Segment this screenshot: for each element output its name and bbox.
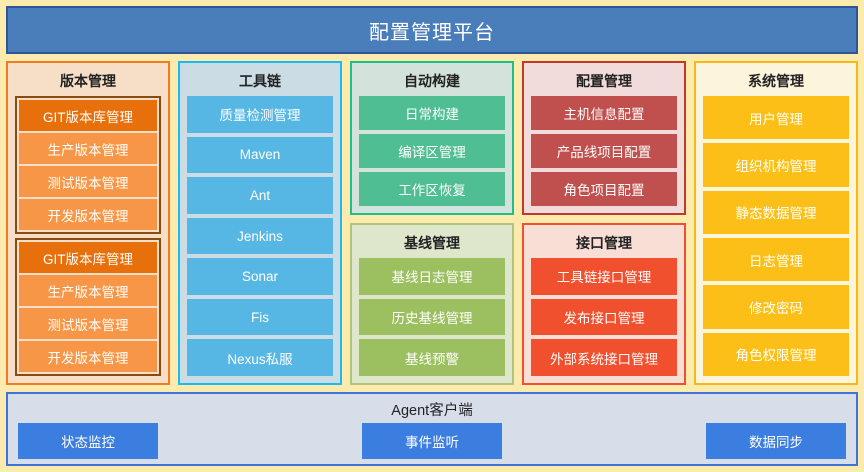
item-release-interface-management[interactable]: 发布接口管理 (531, 299, 677, 336)
module-columns: 版本管理 GIT版本库管理 生产版本管理 测试版本管理 开发版本管理 GIT版本… (6, 61, 858, 385)
item-daily-build[interactable]: 日常构建 (359, 96, 505, 130)
agent-button-data-sync[interactable]: 数据同步 (706, 423, 846, 459)
agent-button-event-listener[interactable]: 事件监听 (362, 423, 502, 459)
agent-client-buttons: 状态监控 事件监听 数据同步 (8, 423, 856, 467)
box-config-management: 配置管理 主机信息配置 产品线项目配置 角色项目配置 (522, 61, 686, 215)
column-version-management: 版本管理 GIT版本库管理 生产版本管理 测试版本管理 开发版本管理 GIT版本… (6, 61, 170, 385)
item-workspace-recovery[interactable]: 工作区恢复 (359, 172, 505, 206)
interface-items: 工具链接口管理 发布接口管理 外部系统接口管理 (531, 258, 677, 376)
item-user-management[interactable]: 用户管理 (703, 96, 849, 139)
item-history-baseline-management[interactable]: 历史基线管理 (359, 299, 505, 336)
item-nexus-private-server[interactable]: Nexus私服 (187, 339, 333, 376)
column-toolchain: 工具链 质量检测管理 Maven Ant Jenkins Sonar Fis N… (178, 61, 342, 385)
box-title-version-management: 版本管理 (15, 68, 161, 96)
box-title-auto-build: 自动构建 (359, 68, 505, 96)
column-system-management: 系统管理 用户管理 组织机构管理 静态数据管理 日志管理 修改密码 角色权限管理 (694, 61, 858, 385)
item-compile-area-management[interactable]: 编译区管理 (359, 134, 505, 168)
item-product-line-project-config[interactable]: 产品线项目配置 (531, 134, 677, 168)
box-interface-management: 接口管理 工具链接口管理 发布接口管理 外部系统接口管理 (522, 223, 686, 385)
item-jenkins[interactable]: Jenkins (187, 218, 333, 255)
item-dev-version-management-1[interactable]: 开发版本管理 (19, 199, 157, 230)
item-external-system-interface-management[interactable]: 外部系统接口管理 (531, 339, 677, 376)
item-baseline-alert[interactable]: 基线预警 (359, 339, 505, 376)
item-fis[interactable]: Fis (187, 299, 333, 336)
item-organization-management[interactable]: 组织机构管理 (703, 143, 849, 186)
toolchain-items: 质量检测管理 Maven Ant Jenkins Sonar Fis Nexus… (187, 96, 333, 376)
item-baseline-log-management[interactable]: 基线日志管理 (359, 258, 505, 295)
item-role-permission-management[interactable]: 角色权限管理 (703, 333, 849, 376)
item-host-info-config[interactable]: 主机信息配置 (531, 96, 677, 130)
item-maven[interactable]: Maven (187, 137, 333, 174)
item-test-version-management-2[interactable]: 测试版本管理 (19, 308, 157, 339)
box-title-system-management: 系统管理 (703, 68, 849, 96)
box-title-baseline-management: 基线管理 (359, 230, 505, 258)
item-production-version-management-2[interactable]: 生产版本管理 (19, 275, 157, 306)
agent-client-title: Agent客户端 (8, 394, 856, 423)
item-ant[interactable]: Ant (187, 177, 333, 214)
item-git-repo-management-2[interactable]: GIT版本库管理 (19, 242, 157, 273)
item-toolchain-interface-management[interactable]: 工具链接口管理 (531, 258, 677, 295)
platform-architecture-diagram: 配置管理平台 版本管理 GIT版本库管理 生产版本管理 测试版本管理 开发版本管… (0, 0, 864, 472)
agent-client-section: Agent客户端 状态监控 事件监听 数据同步 (6, 392, 858, 466)
auto-build-items: 日常构建 编译区管理 工作区恢复 (359, 96, 505, 206)
box-title-interface-management: 接口管理 (531, 230, 677, 258)
box-title-toolchain: 工具链 (187, 68, 333, 96)
item-test-version-management-1[interactable]: 测试版本管理 (19, 166, 157, 197)
version-management-groups: GIT版本库管理 生产版本管理 测试版本管理 开发版本管理 GIT版本库管理 生… (15, 96, 161, 376)
config-items: 主机信息配置 产品线项目配置 角色项目配置 (531, 96, 677, 206)
item-dev-version-management-2[interactable]: 开发版本管理 (19, 341, 157, 372)
item-static-data-management[interactable]: 静态数据管理 (703, 191, 849, 234)
baseline-items: 基线日志管理 历史基线管理 基线预警 (359, 258, 505, 376)
version-group-2: GIT版本库管理 生产版本管理 测试版本管理 开发版本管理 (15, 238, 161, 376)
box-system-management: 系统管理 用户管理 组织机构管理 静态数据管理 日志管理 修改密码 角色权限管理 (694, 61, 858, 385)
version-group-1: GIT版本库管理 生产版本管理 测试版本管理 开发版本管理 (15, 96, 161, 234)
item-log-management[interactable]: 日志管理 (703, 238, 849, 281)
item-change-password[interactable]: 修改密码 (703, 285, 849, 328)
item-quality-detection-management[interactable]: 质量检测管理 (187, 96, 333, 133)
item-role-project-config[interactable]: 角色项目配置 (531, 172, 677, 206)
box-version-management: 版本管理 GIT版本库管理 生产版本管理 测试版本管理 开发版本管理 GIT版本… (6, 61, 170, 385)
system-items: 用户管理 组织机构管理 静态数据管理 日志管理 修改密码 角色权限管理 (703, 96, 849, 376)
box-auto-build: 自动构建 日常构建 编译区管理 工作区恢复 (350, 61, 514, 215)
agent-button-status-monitor[interactable]: 状态监控 (18, 423, 158, 459)
page-title: 配置管理平台 (369, 16, 495, 45)
item-git-repo-management-1[interactable]: GIT版本库管理 (19, 100, 157, 131)
item-production-version-management-1[interactable]: 生产版本管理 (19, 133, 157, 164)
box-toolchain: 工具链 质量检测管理 Maven Ant Jenkins Sonar Fis N… (178, 61, 342, 385)
platform-title-banner: 配置管理平台 (6, 6, 858, 54)
item-sonar[interactable]: Sonar (187, 258, 333, 295)
column-config-interface: 配置管理 主机信息配置 产品线项目配置 角色项目配置 接口管理 工具链接口管理 … (522, 61, 686, 385)
box-title-config-management: 配置管理 (531, 68, 677, 96)
column-build-baseline: 自动构建 日常构建 编译区管理 工作区恢复 基线管理 基线日志管理 历史基线管理… (350, 61, 514, 385)
box-baseline-management: 基线管理 基线日志管理 历史基线管理 基线预警 (350, 223, 514, 385)
